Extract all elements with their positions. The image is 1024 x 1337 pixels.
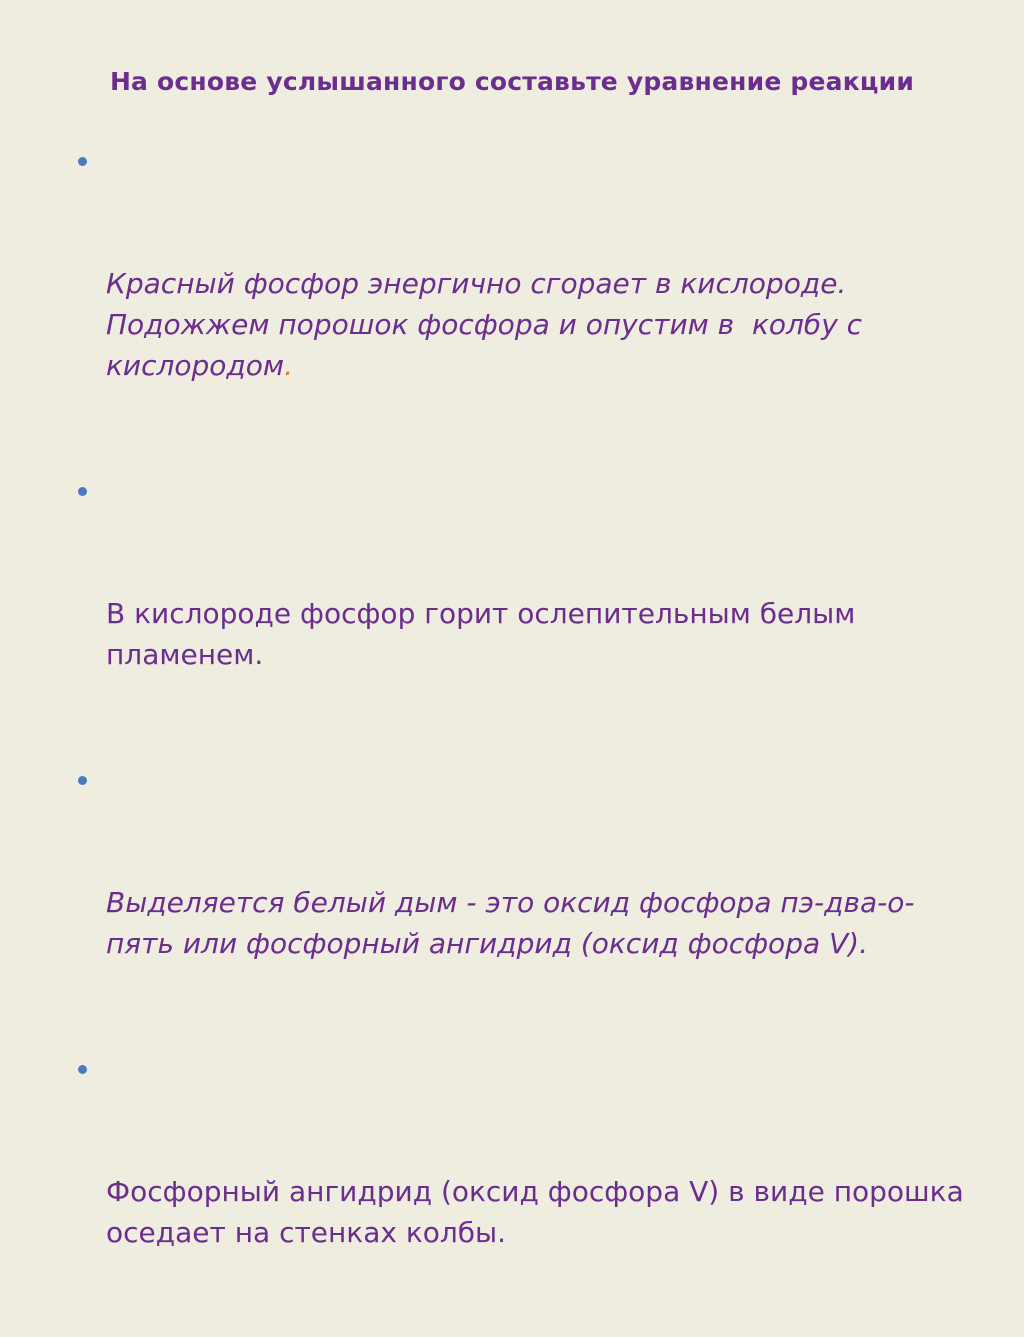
slide-canvas: На основе услышанного составьте уравнени… bbox=[0, 0, 1024, 768]
accent-period: . bbox=[284, 349, 293, 382]
list-item: Красный фосфор энергично сгорает в кисло… bbox=[64, 140, 964, 468]
list-item-text: Фосфорный ангидрид (оксид фосфора V) в в… bbox=[106, 1175, 973, 1249]
bullet-dot-icon bbox=[78, 776, 87, 785]
page-title: На основе услышанного составьте уравнени… bbox=[60, 68, 964, 96]
list-item: Фосфорный ангидрид (оксид фосфора V) в в… bbox=[64, 1048, 964, 1335]
bullet-dot-icon bbox=[78, 487, 87, 496]
list-item-text: Выделяется белый дым - это оксид фосфора… bbox=[106, 886, 915, 960]
list-item-text: В кислороде фосфор горит ослепительным б… bbox=[106, 597, 864, 671]
list-item-text: Красный фосфор энергично сгорает в кисло… bbox=[106, 267, 871, 382]
list-item: В кислороде фосфор горит ослепительным б… bbox=[64, 470, 964, 757]
bullet-list: Красный фосфор энергично сгорает в кисло… bbox=[64, 140, 964, 1337]
bullet-dot-icon bbox=[78, 1065, 87, 1074]
list-item: Выделяется белый дым - это оксид фосфора… bbox=[64, 759, 964, 1046]
bullet-dot-icon bbox=[78, 157, 87, 166]
